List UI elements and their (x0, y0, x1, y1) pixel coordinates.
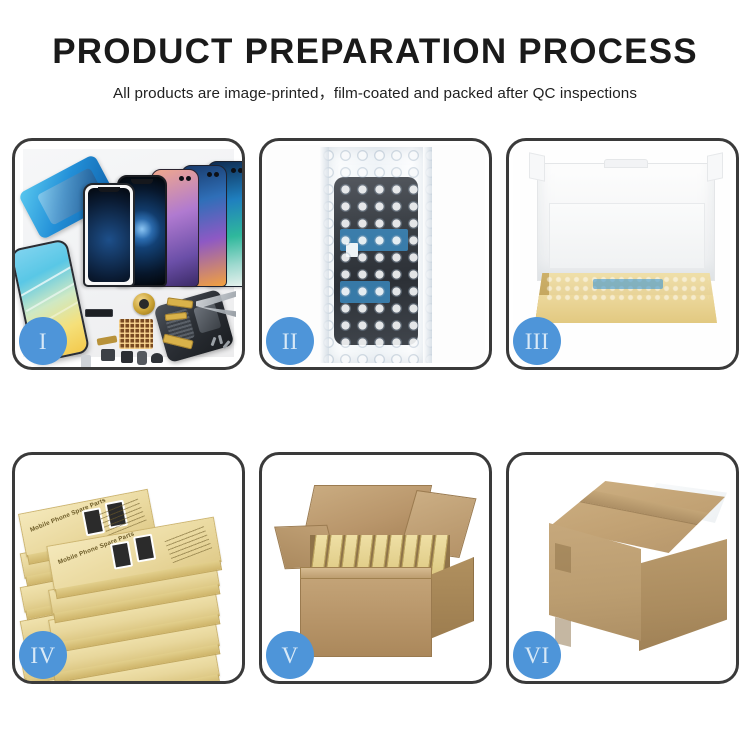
step-panel-1[interactable]: I (12, 138, 245, 370)
sleeve-seam-right (423, 147, 432, 363)
small-part-icon (81, 355, 91, 367)
sealed-shipping-carton (521, 481, 727, 657)
step-badge-6: VI (513, 631, 561, 679)
earpiece-mesh-icon (85, 309, 113, 317)
small-part-icon (121, 351, 133, 363)
step-panel-6[interactable]: VI (506, 452, 739, 684)
boxed-bubble-wrapped-parts (545, 275, 709, 301)
carton-front-face (300, 575, 432, 657)
carton-right-face (639, 539, 727, 651)
screws-icon (210, 335, 234, 353)
step-panel-5[interactable]: V (259, 452, 492, 684)
step-panel-3[interactable]: III (506, 138, 739, 370)
bubble-sleeve (320, 147, 432, 363)
small-part-icon (101, 349, 115, 361)
steps-grid: I II (12, 138, 740, 686)
foam-liner (549, 203, 705, 269)
speaker-coil-icon (133, 293, 155, 315)
chip-grid-icon (119, 319, 153, 349)
page-subtitle: All products are image-printed，film-coat… (0, 81, 750, 103)
header: PRODUCT PREPARATION PROCESS All products… (0, 34, 750, 103)
sleeve-seam-left (320, 147, 329, 363)
step-badge-4: IV (19, 631, 67, 679)
step-panel-2[interactable]: II (259, 138, 492, 370)
bubble-texture-icon (320, 147, 432, 363)
product-preparation-infographic: PRODUCT PREPARATION PROCESS All products… (0, 0, 750, 750)
step-badge-2: II (266, 317, 314, 365)
step-badge-3: III (513, 317, 561, 365)
small-part-icon (151, 353, 163, 363)
page-title: PRODUCT PREPARATION PROCESS (0, 34, 750, 71)
open-shipping-carton (282, 479, 472, 657)
carton-top-edge (300, 567, 432, 579)
step-badge-1: I (19, 317, 67, 365)
phone-lineup (77, 159, 242, 287)
phone-glass-protector-icon (83, 183, 135, 287)
carton-flap-seam (555, 543, 571, 573)
step-badge-5: V (266, 631, 314, 679)
small-part-icon (137, 351, 147, 365)
step-panel-4[interactable]: Mobile Phone Spare Parts Mobile Phone Sp… (12, 452, 245, 684)
